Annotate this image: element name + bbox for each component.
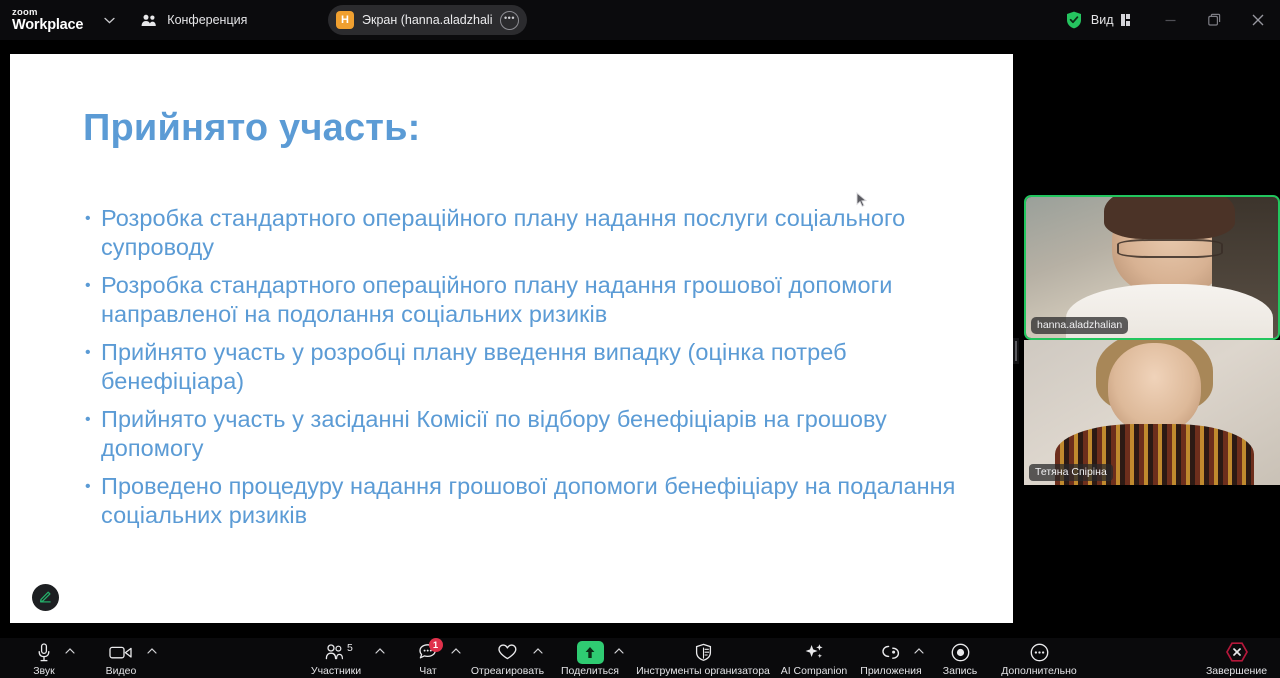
- zoom-meeting-window: zoom Workplace Конференция H Экран (hann…: [0, 0, 1280, 678]
- restore-window-icon[interactable]: [1192, 0, 1236, 40]
- annotate-button[interactable]: [32, 584, 59, 611]
- video-tile[interactable]: Тетяна Спіріна: [1024, 340, 1280, 485]
- apps-options-caret-icon[interactable]: [913, 647, 925, 656]
- apps-button-label: Приложения: [860, 665, 921, 677]
- zoom-workplace-logo: zoom Workplace: [12, 8, 83, 33]
- apps-button[interactable]: Приложения: [860, 638, 922, 678]
- video-tile-speaker[interactable]: hanna.aladzhalian: [1024, 195, 1280, 340]
- bullet-marker: •: [83, 204, 101, 233]
- close-icon[interactable]: [1236, 0, 1280, 40]
- video-tile-strip: hanna.aladzhalian Тетяна Спіріна: [1024, 195, 1280, 485]
- share-screen-button-label: Поделиться: [561, 665, 619, 677]
- chat-unread-badge: 1: [429, 638, 443, 652]
- more-button-label: Дополнительно: [1001, 665, 1077, 677]
- ai-companion-button[interactable]: AI Companion: [778, 638, 850, 678]
- participants-button[interactable]: Участники: [307, 638, 365, 678]
- more-button[interactable]: Дополнительно: [995, 638, 1083, 678]
- meeting-tab-label: Конференция: [167, 13, 247, 27]
- participant-name-label: Тетяна Спіріна: [1029, 464, 1113, 481]
- avatar: H: [336, 11, 354, 29]
- bullet-marker: •: [83, 271, 101, 300]
- apps-icon: [880, 642, 902, 662]
- host-tools-button-label: Инструменты организатора: [636, 665, 770, 677]
- list-item: • Прийнято участь у розробці плану введе…: [83, 338, 973, 395]
- video-camera-icon: [109, 642, 133, 662]
- record-icon: [951, 642, 970, 662]
- participants-icon: [325, 642, 347, 662]
- meeting-stage: Прийнято участь: • Розробка стандартного…: [0, 40, 1280, 638]
- list-item-text: Прийнято участь у засіданні Комісії по в…: [101, 405, 973, 462]
- list-item: • Розробка стандартного операційного пла…: [83, 204, 973, 261]
- ai-companion-button-label: AI Companion: [781, 665, 848, 677]
- host-tools-shield-icon: [694, 642, 713, 662]
- layout-grid-icon: [1121, 14, 1131, 26]
- view-layout-button[interactable]: Вид: [1091, 13, 1130, 27]
- brand-workplace-text: Workplace: [12, 18, 83, 33]
- list-item-text: Проведено процедуру надання грошової доп…: [101, 472, 973, 529]
- participants-options-caret-icon[interactable]: [374, 647, 386, 656]
- share-screen-button[interactable]: Поделиться: [560, 638, 620, 678]
- list-item-text: Прийнято участь у розробці плану введенн…: [101, 338, 973, 395]
- meeting-tab[interactable]: Конференция: [141, 13, 247, 27]
- more-horizontal-icon: [1030, 642, 1049, 662]
- audio-button[interactable]: Звук: [22, 638, 66, 678]
- participants-count: 5: [347, 642, 353, 654]
- video-options-caret-icon[interactable]: [146, 647, 158, 656]
- slide-bullet-list: • Розробка стандартного операційного пла…: [83, 204, 973, 539]
- list-item-text: Розробка стандартного операційного плану…: [101, 204, 973, 261]
- shared-screen-slide[interactable]: Прийнято участь: • Розробка стандартного…: [10, 54, 1013, 623]
- reactions-button-label: Отреагировать: [471, 665, 544, 677]
- chevron-down-icon[interactable]: [101, 12, 117, 28]
- list-item: • Розробка стандартного операційного пла…: [83, 271, 973, 328]
- list-item: • Прийнято участь у засіданні Комісії по…: [83, 405, 973, 462]
- window-titlebar: zoom Workplace Конференция H Экран (hann…: [0, 0, 1280, 40]
- brand-zoom-text: zoom: [12, 8, 83, 18]
- list-item: • Проведено процедуру надання грошової д…: [83, 472, 973, 529]
- share-screen-icon: [577, 642, 604, 662]
- host-tools-button[interactable]: Инструменты организатора: [622, 638, 784, 678]
- microphone-icon: [37, 642, 51, 662]
- mouse-pointer-icon: [856, 192, 868, 213]
- audio-button-label: Звук: [33, 665, 55, 677]
- bullet-marker: •: [83, 338, 101, 367]
- ai-sparkle-icon: [803, 642, 825, 662]
- people-icon: [141, 14, 158, 27]
- list-item-text: Розробка стандартного операційного плану…: [101, 271, 973, 328]
- chat-options-caret-icon[interactable]: [450, 647, 462, 656]
- participant-name-label: hanna.aladzhalian: [1031, 317, 1128, 334]
- pencil-annotate-icon: [38, 588, 53, 608]
- end-meeting-icon: [1224, 642, 1250, 662]
- chat-bubble-icon: 1: [418, 642, 439, 662]
- audio-options-caret-icon[interactable]: [64, 647, 76, 656]
- screen-share-tab-label: Экран (hanna.aladzhalian): [362, 13, 492, 27]
- screen-share-tab[interactable]: H Экран (hanna.aladzhalian) •••: [328, 5, 527, 35]
- view-label: Вид: [1091, 13, 1114, 27]
- bullet-marker: •: [83, 405, 101, 434]
- reactions-options-caret-icon[interactable]: [532, 647, 544, 656]
- page-title: Прийнято участь:: [83, 107, 421, 150]
- video-button-label: Видео: [106, 665, 137, 677]
- record-button[interactable]: Запись: [935, 638, 985, 678]
- video-button[interactable]: Видео: [99, 638, 143, 678]
- panel-resize-handle[interactable]: [1013, 338, 1019, 364]
- reactions-button[interactable]: Отреагировать: [464, 638, 551, 678]
- end-meeting-button-label: Завершение: [1206, 665, 1267, 677]
- shield-check-icon[interactable]: [1066, 11, 1083, 30]
- heart-reaction-icon: [497, 642, 518, 662]
- record-button-label: Запись: [943, 665, 977, 677]
- participants-button-label: Участники: [311, 665, 361, 677]
- end-meeting-button[interactable]: Завершение: [1204, 638, 1269, 678]
- chat-button[interactable]: 1 Чат: [410, 638, 446, 678]
- window-controls-group: Вид: [1066, 0, 1280, 40]
- bullet-marker: •: [83, 472, 101, 501]
- minimize-icon[interactable]: [1148, 0, 1192, 40]
- chat-button-label: Чат: [419, 665, 436, 677]
- meeting-controls-toolbar: Звук Видео: [0, 638, 1280, 678]
- more-options-icon[interactable]: •••: [500, 11, 519, 30]
